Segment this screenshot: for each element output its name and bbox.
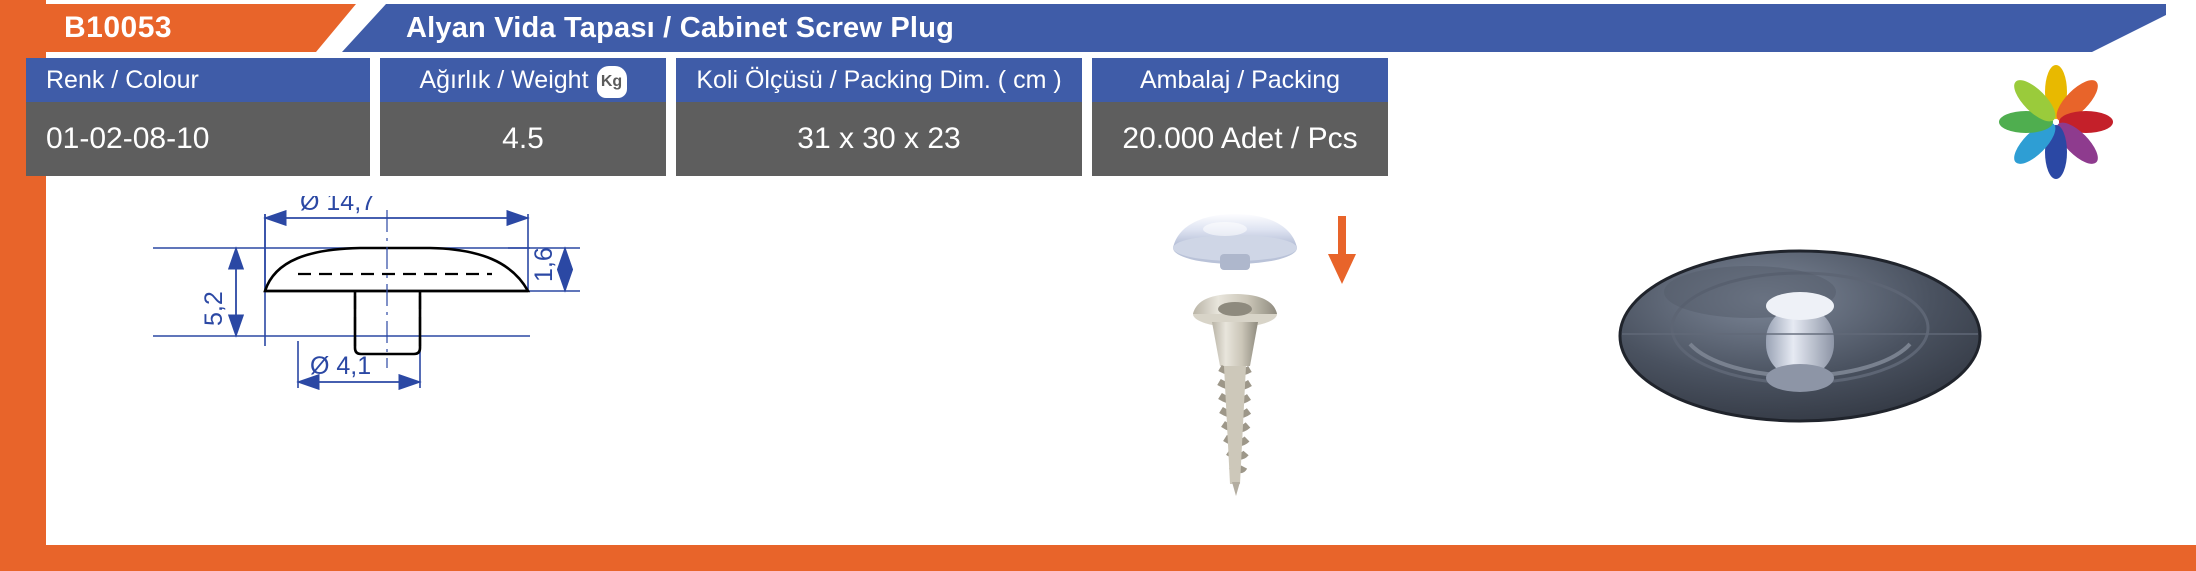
column-header-label: Ağırlık / Weight (419, 66, 588, 95)
part-outline (265, 248, 528, 354)
dim-label: 5,2 (200, 291, 228, 326)
product-header: B10053 Alyan Vida Tapası / Cabinet Screw… (26, 4, 2166, 52)
product-title: Alyan Vida Tapası / Cabinet Screw Plug (342, 12, 954, 45)
spec-column-packing-dim: Koli Ölçüsü / Packing Dim. ( cm ) 31 x 3… (676, 58, 1082, 186)
table-cell: 31 x 30 x 23 (676, 102, 1082, 176)
installed-plug-render (1620, 251, 1980, 421)
column-header-label: Ambalaj / Packing (1140, 66, 1340, 95)
spec-column-colour: Renk / Colour 01-02-08-10 (26, 58, 370, 186)
illustration-area: Ø 14,7 1,6 5,2 Ø 4,1 (60, 196, 2160, 546)
spec-column-weight: Ağırlık / Weight Kg 4.5 (380, 58, 666, 186)
kg-unit-icon: Kg (597, 66, 627, 98)
dim-label: Ø 4,1 (310, 352, 371, 380)
spec-table: Renk / Colour 01-02-08-10 Ağırlık / Weig… (26, 58, 1388, 186)
flower-logo (1996, 62, 2116, 180)
dim-total-height: 5,2 (200, 248, 236, 336)
cell-value: 20.000 Adet / Pcs (1122, 122, 1357, 156)
plug-and-screw-assembly (1173, 214, 1356, 496)
catalog-sheet: B10053 Alyan Vida Tapası / Cabinet Screw… (0, 0, 2196, 571)
column-header: Koli Ölçüsü / Packing Dim. ( cm ) (676, 58, 1082, 102)
dim-cap-thickness: 1,6 (530, 247, 565, 291)
cell-value: 01-02-08-10 (46, 122, 209, 156)
dim-label: 1,6 (530, 247, 558, 282)
product-title-tab: Alyan Vida Tapası / Cabinet Screw Plug (342, 4, 2166, 52)
column-header: Renk / Colour (26, 58, 370, 102)
plug-cap-render (1173, 214, 1297, 270)
cell-value: 4.5 (502, 122, 544, 156)
product-code-tab: B10053 (26, 4, 356, 52)
table-cell: 01-02-08-10 (26, 102, 370, 176)
product-code: B10053 (26, 11, 172, 45)
spec-column-packing: Ambalaj / Packing 20.000 Adet / Pcs (1092, 58, 1388, 186)
frame-bottom-bar (0, 545, 2196, 571)
column-header-label: Renk / Colour (46, 66, 199, 95)
column-header-label: Koli Ölçüsü / Packing Dim. ( cm ) (696, 66, 1061, 95)
table-cell: 4.5 (380, 102, 666, 176)
cell-value: 31 x 30 x 23 (797, 122, 960, 156)
dim-shaft-diameter: Ø 4,1 (298, 352, 420, 382)
dim-cap-diameter: Ø 14,7 (265, 196, 528, 218)
column-header: Ağırlık / Weight Kg (380, 58, 666, 102)
table-cell: 20.000 Adet / Pcs (1092, 102, 1388, 176)
cabinet-screw-render (1193, 294, 1277, 496)
dim-label: Ø 14,7 (300, 196, 375, 216)
technical-drawing: Ø 14,7 1,6 5,2 Ø 4,1 (153, 196, 580, 388)
assembly-arrow-icon (1328, 216, 1356, 284)
column-header: Ambalaj / Packing (1092, 58, 1388, 102)
